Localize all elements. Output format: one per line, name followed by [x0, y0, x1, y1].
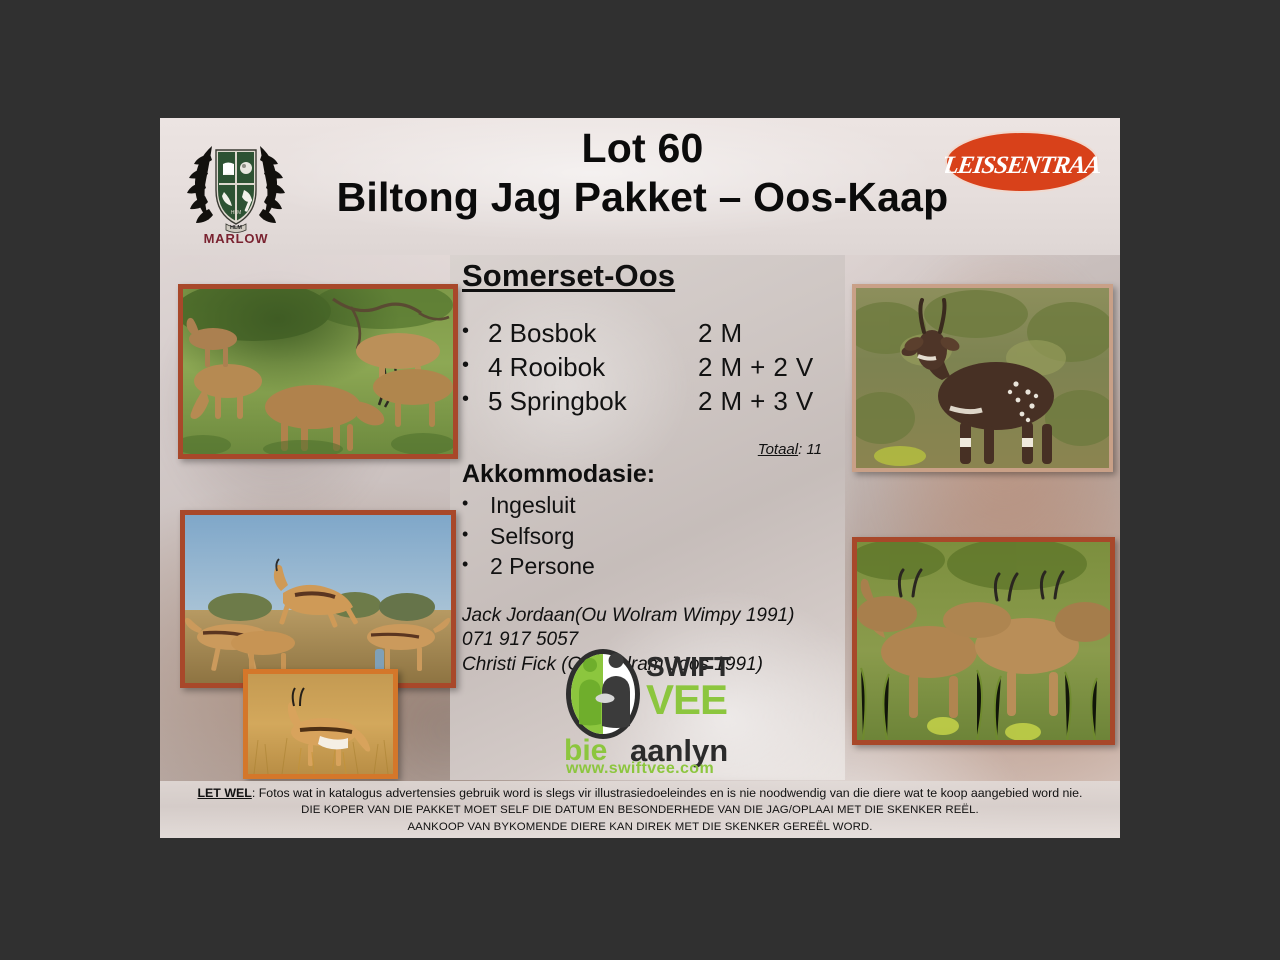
bullet-icon: •	[462, 350, 488, 384]
list-item: • 5 Springbok 2 M + 3 V	[462, 384, 842, 418]
list-item: • 2 Bosbok 2 M	[462, 316, 842, 350]
accommodation-text: Selfsorg	[490, 521, 574, 552]
animal-quantity: 2 M + 2 V	[698, 350, 842, 384]
photo-springbok-pronking-blue-sky	[180, 510, 456, 688]
animal-list: • 2 Bosbok 2 M • 4 Rooibok 2 M + 2 V • 5…	[462, 316, 842, 418]
bullet-icon: •	[462, 316, 488, 350]
swiftvee-url: www.swiftvee.com	[566, 761, 714, 777]
accommodation-text: Ingesluit	[490, 490, 576, 521]
animal-name: 5 Springbok	[488, 384, 698, 418]
bullet-icon: •	[462, 551, 490, 582]
swiftvee-logo: SWIFT VEE bie aanlyn www.swiftvee.com	[558, 648, 728, 776]
swiftvee-word-vee: VEE	[646, 679, 727, 721]
disclaimer-line-1-text: : Fotos wat in katalogus advertensies ge…	[252, 786, 1083, 800]
svg-text:MARLOW: MARLOW	[204, 231, 269, 246]
page-title-package: Biltong Jag Pakket – Oos-Kaap	[270, 175, 1015, 221]
accommodation-text: 2 Persone	[490, 551, 595, 582]
page-title-lot: Lot 60	[270, 126, 1015, 172]
location-heading: Somerset-Oos	[462, 258, 842, 294]
accommodation-heading: Akkommodasie:	[462, 460, 842, 489]
disclaimer-line-3: AANKOOP VAN BYKOMENDE DIERE KAN DIREK ME…	[160, 821, 1120, 833]
bullet-icon: •	[462, 521, 490, 552]
marlow-crest-logo: HLM HLM MARLOW	[182, 128, 290, 246]
list-item: • 4 Rooibok 2 M + 2 V	[462, 350, 842, 384]
bullet-icon: •	[462, 384, 488, 418]
animal-name: 2 Bosbok	[488, 316, 698, 350]
notice-label: LET WEL	[197, 786, 251, 800]
animal-quantity: 2 M + 3 V	[698, 384, 842, 418]
animal-name: 4 Rooibok	[488, 350, 698, 384]
contact-name-primary: Jack Jordaan(Ou Wolram Wimpy 1991)	[462, 604, 842, 629]
swiftvee-handshake-icon	[564, 648, 642, 740]
photo-springbok-golden-grass	[243, 669, 398, 779]
svg-text:VLEISSENTRAAL: VLEISSENTRAAL	[945, 152, 1100, 179]
bullet-icon: •	[462, 490, 490, 521]
slide-content: Somerset-Oos • 2 Bosbok 2 M • 4 Rooibok …	[462, 258, 842, 677]
animal-quantity: 2 M	[698, 316, 842, 350]
list-item: • Ingesluit	[462, 490, 842, 521]
list-item: • 2 Persone	[462, 551, 842, 582]
vleissentraal-logo: VLEISSENTRAAL	[945, 131, 1100, 193]
svg-text:HLM: HLM	[231, 210, 242, 216]
presentation-slide: HLM HLM MARLOW VLEISSENTRAAL Lot 60 Bilt…	[160, 118, 1120, 838]
photo-impala-group-tall-grass	[852, 537, 1115, 745]
slide-footer-disclaimer: LET WEL: Fotos wat in katalogus adverten…	[160, 781, 1120, 838]
slide-title-block: Lot 60 Biltong Jag Pakket – Oos-Kaap	[270, 126, 1015, 221]
photo-impala-herd-green-grass	[178, 284, 458, 459]
disclaimer-line-2: DIE KOPER VAN DIE PAKKET MOET SELF DIE D…	[160, 804, 1120, 816]
total-label: Totaal	[758, 441, 798, 458]
total-value: : 11	[798, 441, 822, 458]
disclaimer-line-1: LET WEL: Fotos wat in katalogus adverten…	[160, 786, 1120, 800]
list-item: • Selfsorg	[462, 521, 842, 552]
accommodation-list: • Ingesluit • Selfsorg • 2 Persone	[462, 490, 842, 582]
total-count: Totaal: 11	[462, 441, 842, 458]
photo-bushbuck-male-scrub	[852, 284, 1113, 472]
